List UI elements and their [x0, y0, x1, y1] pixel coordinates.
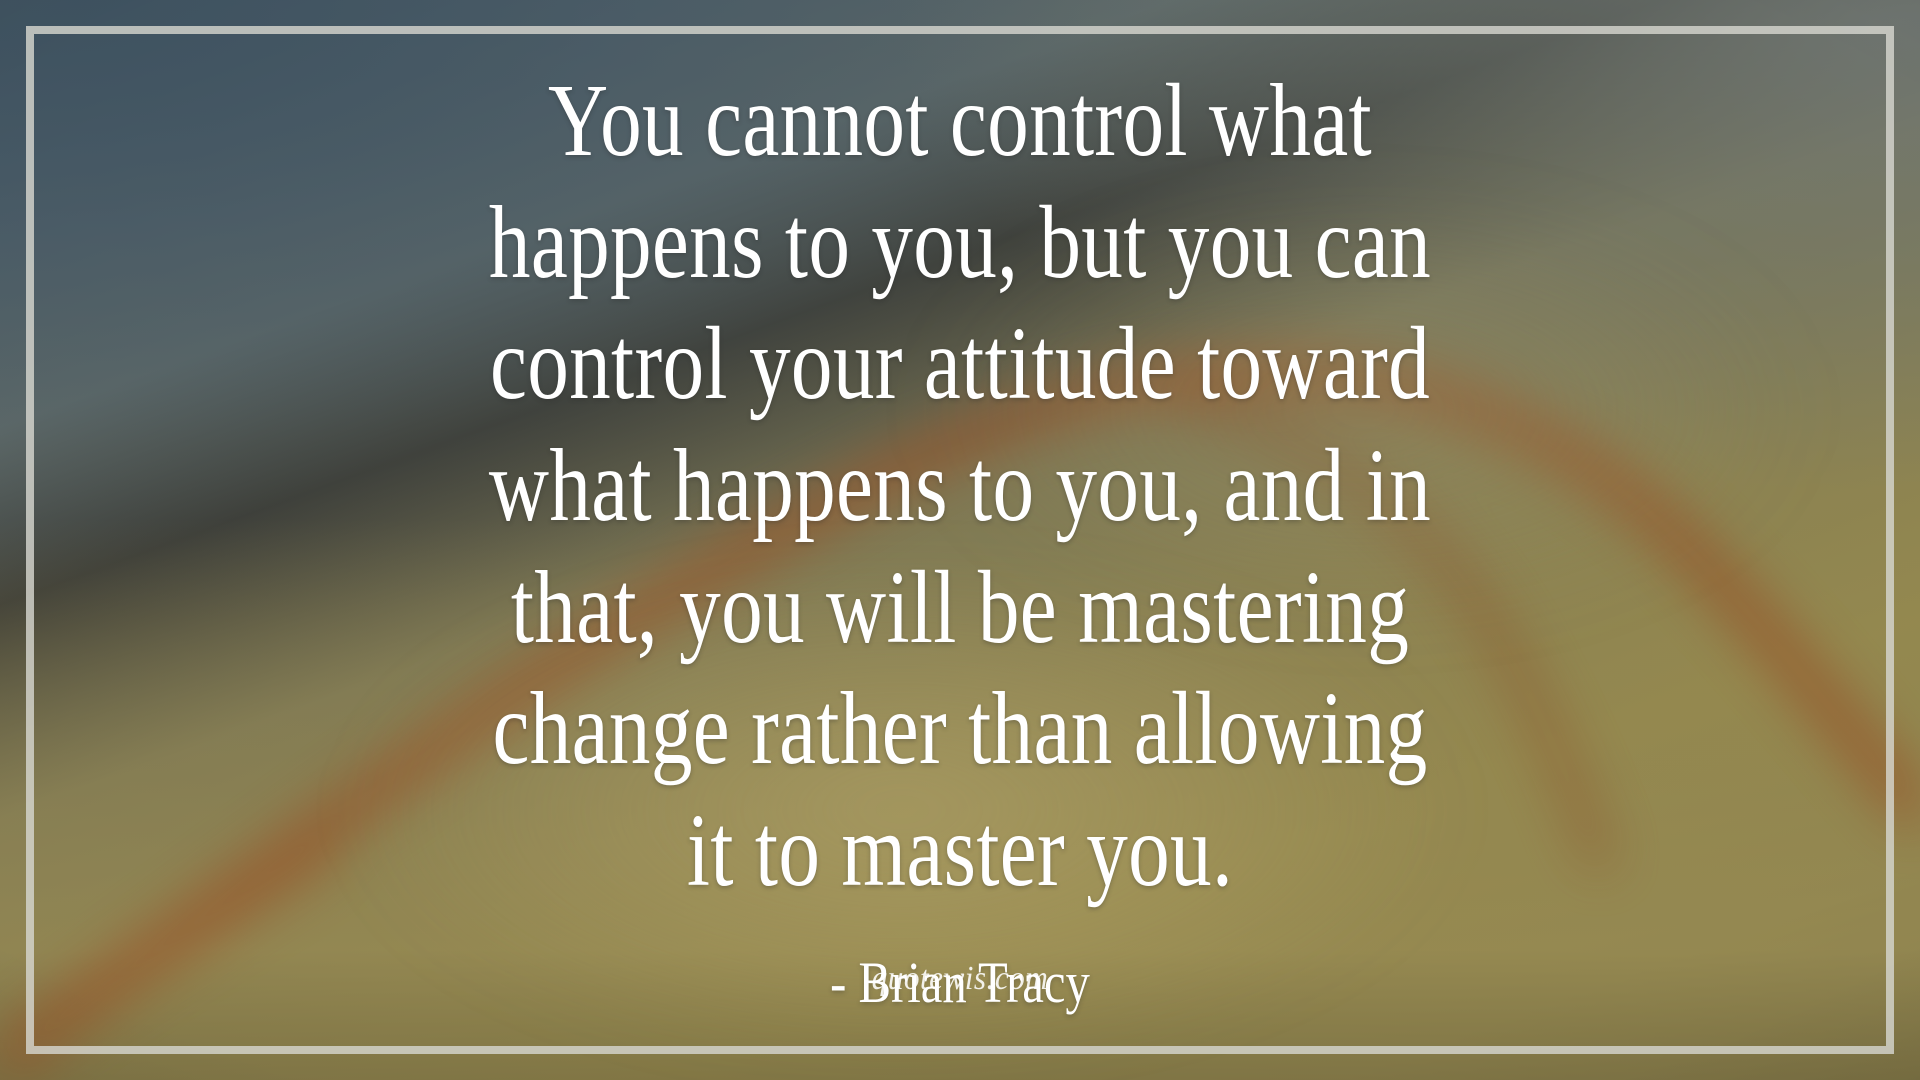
- quote-text: You cannot control what happens to you, …: [259, 60, 1661, 912]
- site-watermark: quotewis.com: [101, 960, 1820, 998]
- quote-image: You cannot control what happens to you, …: [0, 0, 1920, 1080]
- attribution-area: - Brian Tracy quotewis.com: [26, 946, 1894, 1042]
- content-area: You cannot control what happens to you, …: [26, 26, 1894, 1054]
